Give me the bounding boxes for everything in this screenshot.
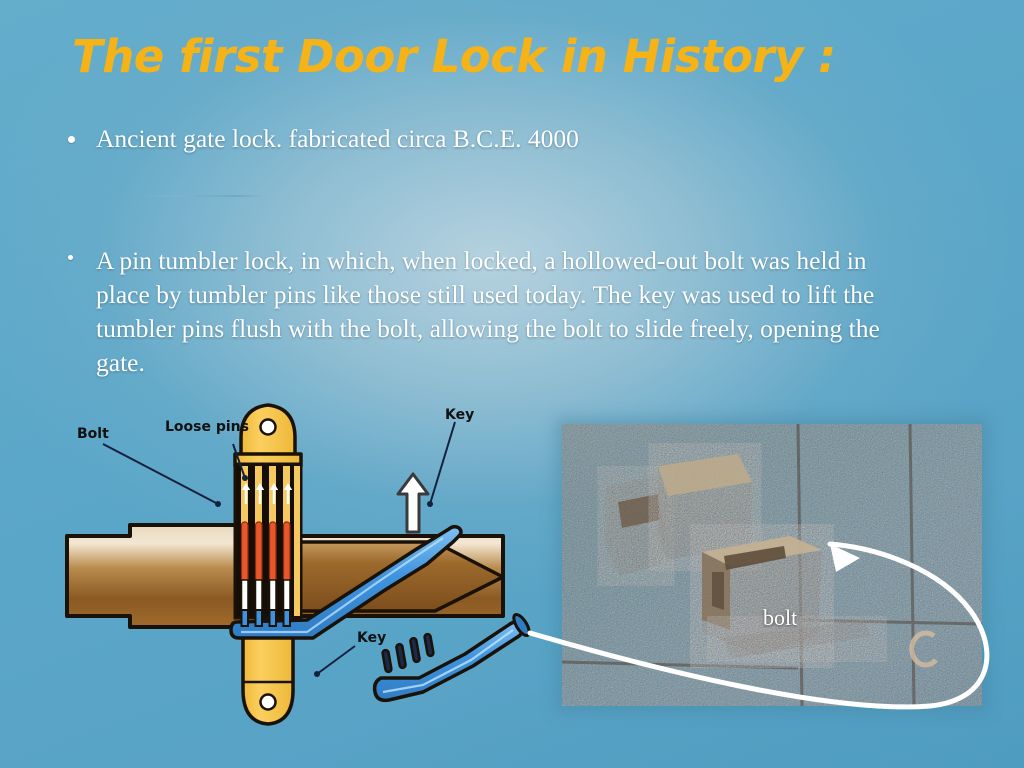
bullet-marker-icon	[68, 136, 75, 143]
photo-caption-bolt: bolt	[763, 605, 797, 631]
key-lift-arrow-icon	[398, 474, 428, 532]
page-title: The first Door Lock in History :	[72, 30, 952, 83]
divider-line	[140, 195, 262, 197]
ancient-lock-photo	[562, 424, 982, 706]
lock-pin-body	[235, 464, 301, 622]
bullet-item-1-text: Ancient gate lock. fabricated circa B.C.…	[96, 122, 579, 155]
diagram-label-key-upper: Key	[445, 407, 474, 423]
pin-tumbler-lock-diagram: Bolt Loose pins Key Key	[55, 392, 555, 768]
diagram-label-loose-pins: Loose pins	[165, 419, 249, 435]
diagram-label-bolt: Bolt	[77, 426, 109, 442]
lock-housing-top	[235, 405, 301, 466]
bullet-marker-icon	[68, 255, 73, 260]
key-loose-shape	[375, 612, 532, 700]
bullet-item-2-text: A pin tumbler lock, in which, when locke…	[96, 244, 924, 380]
bullet-item-2: A pin tumbler lock, in which, when locke…	[68, 244, 924, 380]
bullet-item-1: Ancient gate lock. fabricated circa B.C.…	[68, 122, 888, 155]
slide-canvas: The first Door Lock in History : Ancient…	[0, 0, 1024, 768]
diagram-label-key-lower: Key	[357, 630, 386, 646]
